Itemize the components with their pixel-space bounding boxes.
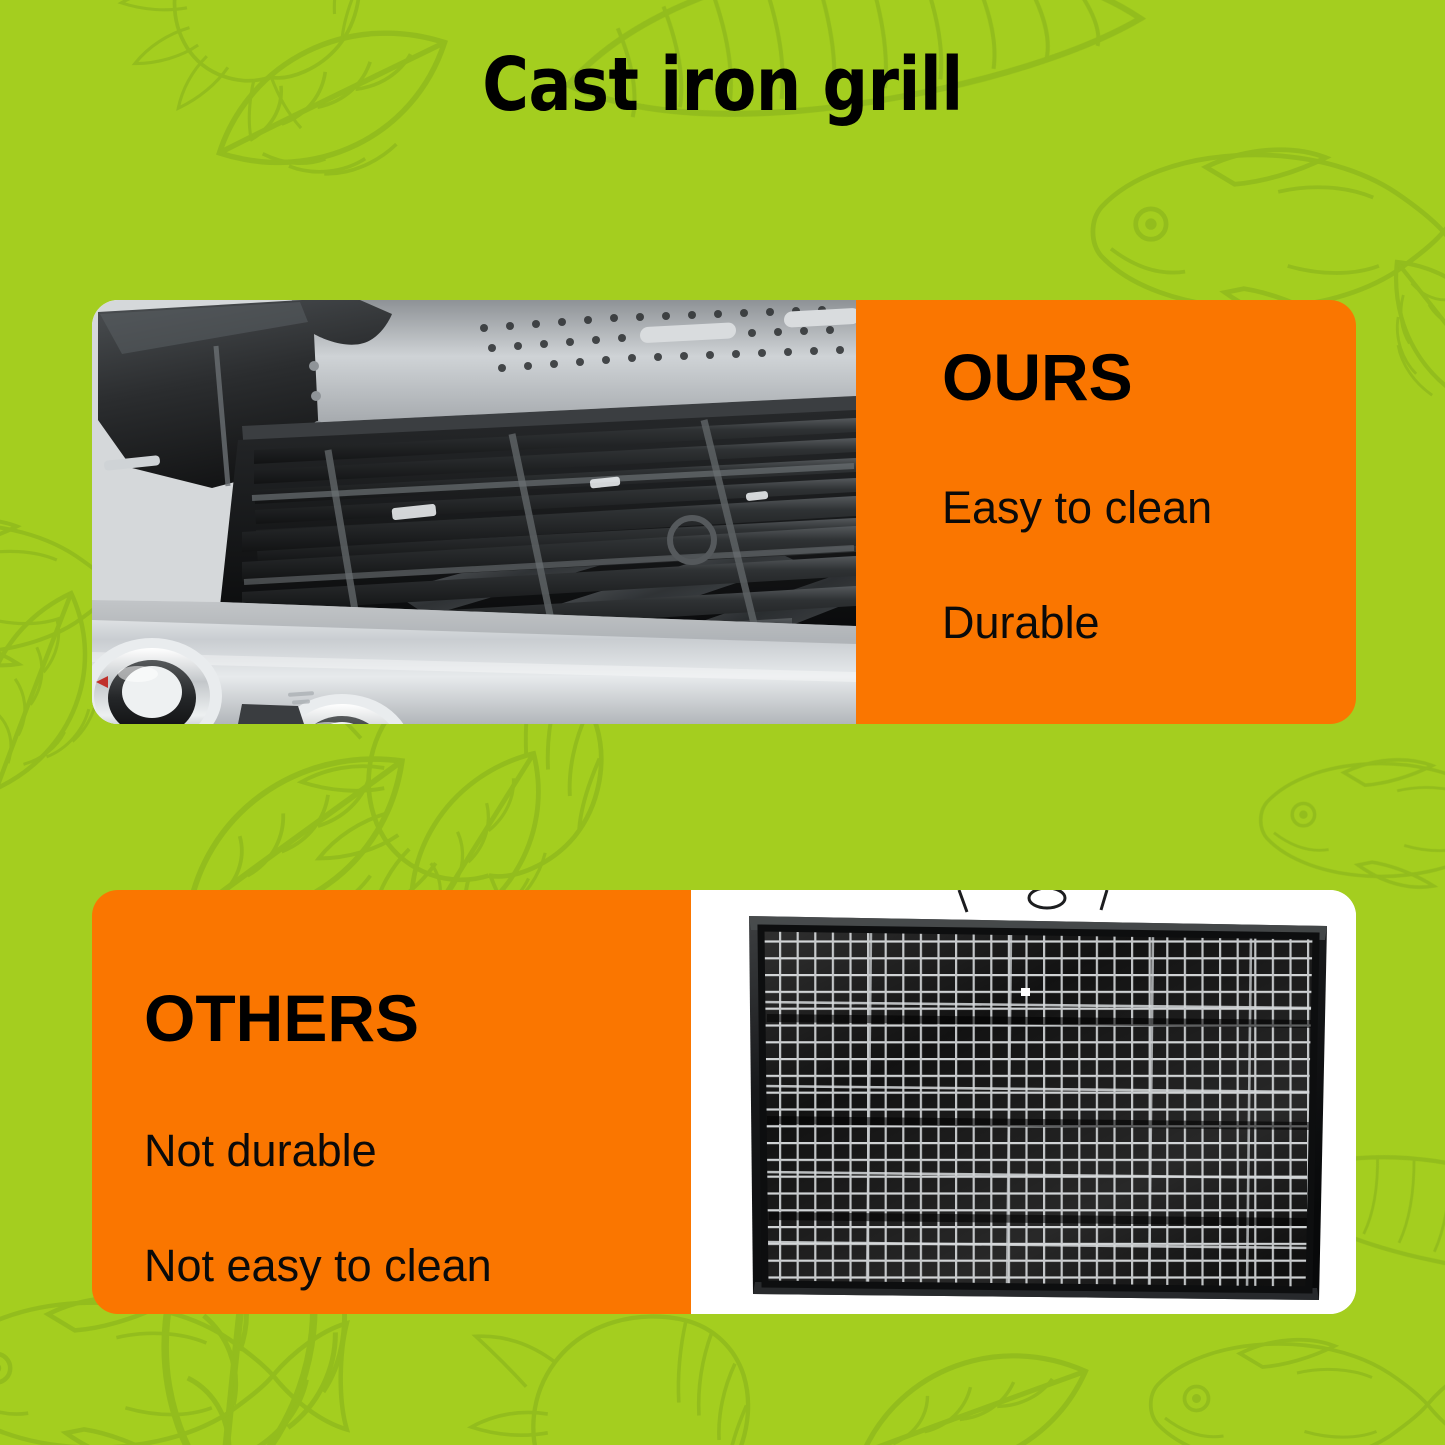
comparison-row-ours: OURS Easy to clean Durable: [92, 300, 1356, 724]
others-heading: OTHERS: [144, 985, 419, 1051]
comparison-row-others: OTHERS Not durable Not easy to clean: [92, 890, 1356, 1314]
ours-text-pane: OURS Easy to clean Durable: [856, 300, 1356, 724]
others-text-pane: OTHERS Not durable Not easy to clean: [92, 890, 691, 1314]
page-title: Cast iron grill: [101, 48, 1344, 122]
infographic-canvas: Cast iron grill: [0, 0, 1445, 1445]
ours-bullet-durable: Durable: [942, 600, 1100, 645]
gas-grill-with-cast-iron-grates-photo: [92, 300, 856, 724]
others-bullet-not-easy-to-clean: Not easy to clean: [144, 1243, 492, 1288]
wire-mesh-grill-grate-photo: [691, 890, 1356, 1314]
ours-heading: OURS: [942, 344, 1133, 410]
ours-bullet-easy-to-clean: Easy to clean: [942, 485, 1212, 530]
others-bullet-not-durable: Not durable: [144, 1128, 377, 1173]
